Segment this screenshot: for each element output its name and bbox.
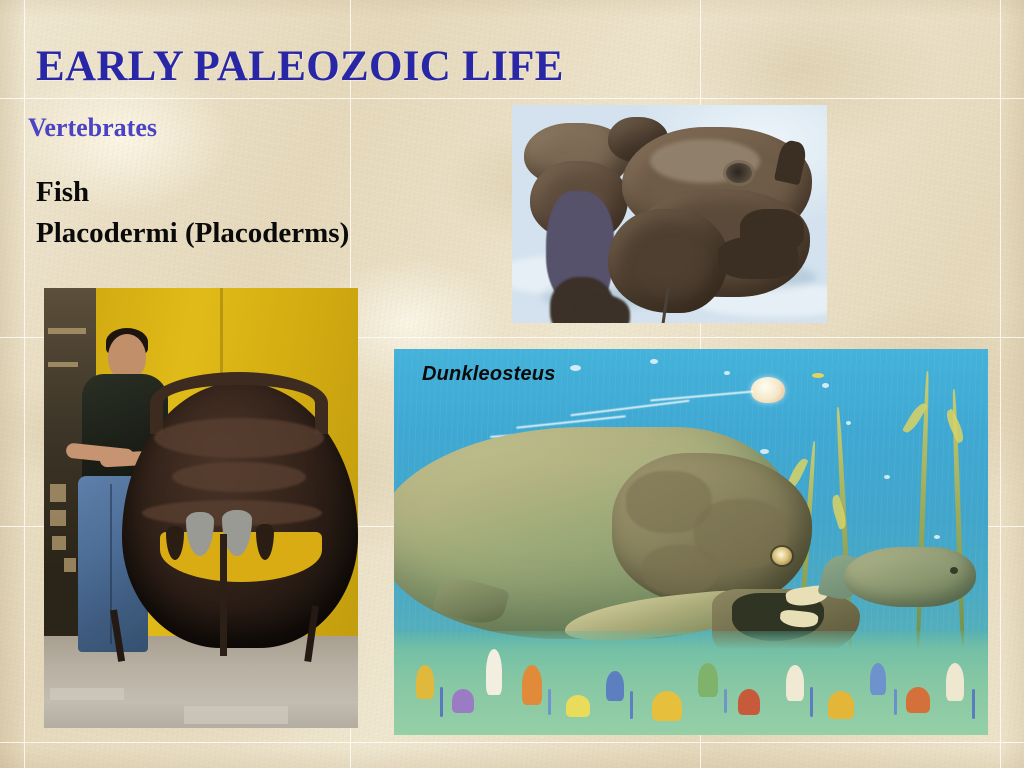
shelf-box-2 <box>50 510 66 526</box>
coral-branch-5 <box>810 687 813 717</box>
fossil-center-support-pole <box>220 534 227 656</box>
sea-floor <box>394 631 988 735</box>
slide-title: EARLY PALEOZOIC LIFE <box>36 44 564 89</box>
fossil-ridge-2 <box>172 462 306 492</box>
coral-branch-6 <box>894 689 897 715</box>
bubble-7 <box>884 475 890 479</box>
skull-fang-lower <box>718 237 798 279</box>
bullet-list: Fish Placodermi (Placoderms) <box>36 172 349 254</box>
coral-4 <box>522 665 542 705</box>
coral-1 <box>416 665 434 699</box>
shelf-box-3 <box>52 536 66 550</box>
bubble-2 <box>650 359 658 364</box>
bullet-item-placodermi: Placodermi (Placoderms) <box>36 213 349 254</box>
bubble-3 <box>724 371 730 375</box>
coral-branch-1 <box>440 687 443 717</box>
coral-8 <box>698 663 718 697</box>
floor-slab-2 <box>50 688 124 700</box>
coral-2 <box>452 689 474 713</box>
bubble-5 <box>846 421 851 425</box>
coral-13 <box>906 687 930 713</box>
coral-14 <box>946 663 964 701</box>
companion-fish-eye <box>950 567 958 574</box>
man-with-fossil-head-photo <box>44 288 358 728</box>
shelf-strip-1 <box>48 328 86 334</box>
bubble-9 <box>934 535 940 539</box>
coral-branch-7 <box>972 689 975 719</box>
background-seam-horizontal-1 <box>0 98 1024 99</box>
coral-12 <box>870 663 886 695</box>
skull-base-shadow <box>574 295 630 323</box>
jellyfish-bell <box>751 377 785 403</box>
shelf-box-4 <box>64 558 76 572</box>
shelf-box-1 <box>50 484 66 502</box>
floor-slab-1 <box>184 706 288 724</box>
background-seam-horizontal-4 <box>0 742 1024 743</box>
background-seam-vertical-4 <box>1000 0 1001 768</box>
coral-6 <box>606 671 624 701</box>
fossil-ridge-1 <box>154 418 324 458</box>
coral-3 <box>486 649 502 695</box>
coral-branch-2 <box>548 689 551 715</box>
coral-9 <box>738 689 760 715</box>
coral-branch-3 <box>630 691 633 719</box>
placoderm-skull-fossil-photo <box>512 105 827 323</box>
coral-7 <box>652 691 682 721</box>
slide-subtitle: Vertebrates <box>28 113 157 143</box>
coral-11 <box>828 691 854 719</box>
background-seam-vertical-1 <box>24 0 25 768</box>
bullet-item-fish: Fish <box>36 172 349 213</box>
skull-eye-socket <box>726 163 752 183</box>
shelf-strip-2 <box>48 362 78 367</box>
companion-fish-body <box>844 547 976 607</box>
head-plate-3 <box>642 545 718 595</box>
coral-10 <box>786 665 804 701</box>
dunkleosteus-underwater-painting: Dunkleosteus <box>394 349 988 735</box>
bubble-6 <box>760 449 769 454</box>
bubble-1 <box>570 365 581 371</box>
dunkleosteus-eye <box>772 547 792 565</box>
dunkleosteus-label: Dunkleosteus <box>422 363 556 386</box>
coral-5 <box>566 695 590 717</box>
bubble-4 <box>822 383 829 388</box>
coral-branch-4 <box>724 689 727 713</box>
small-fish-5 <box>812 373 824 378</box>
slide-canvas: EARLY PALEOZOIC LIFE Vertebrates Fish Pl… <box>0 0 1024 768</box>
